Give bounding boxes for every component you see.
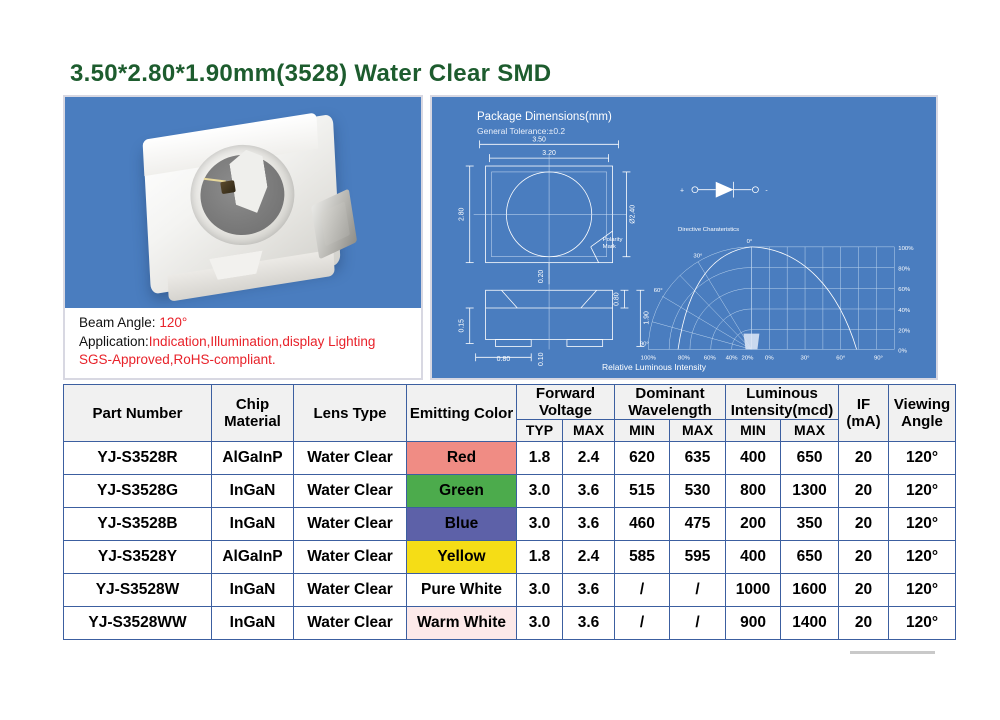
cell-dw-max: 595: [670, 541, 726, 574]
application-value: Indication,Illumination,display Lighting: [149, 334, 376, 349]
cell-lens-type: Water Clear: [294, 508, 407, 541]
cell-dw-min: 460: [615, 508, 670, 541]
col-if-ma: IF (mA): [839, 385, 889, 442]
tick-60pct-right: 60%: [898, 287, 911, 293]
cell-li-max: 1400: [781, 607, 839, 640]
table-header-row-1: Part Number Chip Material Lens Type Emit…: [64, 385, 956, 420]
col-forward-voltage: Forward Voltage: [517, 385, 615, 420]
cell-if-typ: 20: [839, 607, 889, 640]
dim-0-20: 0.20: [538, 270, 545, 284]
dim-dia-2-40: Ø2.40: [629, 205, 636, 224]
cell-emitting-color: Green: [407, 475, 517, 508]
cell-li-max: 1600: [781, 574, 839, 607]
subcol-dw-min: MIN: [615, 420, 670, 442]
tick-40pct: 40%: [726, 355, 739, 361]
cell-emitting-color: Red: [407, 442, 517, 475]
tick-40pct-right: 40%: [898, 308, 911, 314]
tick-0pct-right: 0%: [898, 348, 907, 354]
cell-chip-material: InGaN: [212, 574, 294, 607]
subcol-fv-typ: TYP: [517, 420, 563, 442]
image-panels: Beam Angle: 120° Application:Indication,…: [63, 95, 938, 380]
cell-li-min: 200: [726, 508, 781, 541]
tick-100pct: 100%: [641, 355, 657, 361]
cell-if-typ: 20: [839, 442, 889, 475]
tick-30deg: 30°: [801, 355, 811, 361]
dimension-drawing: 3.50 3.20: [432, 97, 936, 378]
directive-title: Directive Charateristics: [678, 227, 739, 233]
cell-li-min: 900: [726, 607, 781, 640]
cell-viewing-angle: 120°: [889, 541, 956, 574]
scan-artifact-line: [850, 651, 935, 654]
cell-li-max: 1300: [781, 475, 839, 508]
cell-fv-typ: 1.8: [517, 541, 563, 574]
cell-li-min: 400: [726, 541, 781, 574]
cell-viewing-angle: 120°: [889, 475, 956, 508]
cell-li-max: 650: [781, 541, 839, 574]
cell-dw-min: /: [615, 607, 670, 640]
polarity-mark-label: Polarity: [603, 237, 623, 243]
dim-0-15: 0.15: [459, 319, 466, 333]
cell-fv-typ: 3.0: [517, 508, 563, 541]
cell-lens-type: Water Clear: [294, 574, 407, 607]
cell-dw-max: /: [670, 574, 726, 607]
subcol-li-max: MAX: [781, 420, 839, 442]
dim-0-80-bottom: 0.80: [497, 356, 511, 363]
application-label: Application:: [79, 334, 149, 349]
cell-fv-max: 2.4: [563, 442, 615, 475]
cell-part-number: YJ-S3528W: [64, 574, 212, 607]
tick-80pct-right: 80%: [898, 267, 911, 273]
cell-chip-material: AlGaInP: [212, 442, 294, 475]
beam-angle-line: Beam Angle: 120°: [79, 314, 421, 333]
cell-lens-type: Water Clear: [294, 442, 407, 475]
beam-angle-value: 120°: [159, 315, 187, 330]
cell-if-typ: 20: [839, 475, 889, 508]
product-caption: Beam Angle: 120° Application:Indication,…: [65, 308, 421, 378]
svg-text:+: +: [680, 188, 684, 195]
tick-90deg: 90°: [874, 355, 884, 361]
tick-100pct-right: 100%: [898, 246, 914, 252]
diode-symbol-icon: + -: [680, 182, 768, 198]
cell-if-typ: 20: [839, 541, 889, 574]
cell-dw-min: 620: [615, 442, 670, 475]
tick-20pct-right: 20%: [898, 329, 911, 335]
table-row: YJ-S3528RAlGaInPWater ClearRed1.82.46206…: [64, 442, 956, 475]
table-row: YJ-S3528BInGaNWater ClearBlue3.03.646047…: [64, 508, 956, 541]
cell-fv-typ: 3.0: [517, 607, 563, 640]
cell-part-number: YJ-S3528G: [64, 475, 212, 508]
cell-fv-max: 3.6: [563, 574, 615, 607]
cell-chip-material: InGaN: [212, 607, 294, 640]
cell-li-min: 400: [726, 442, 781, 475]
cell-part-number: YJ-S3528WW: [64, 607, 212, 640]
col-lens-type: Lens Type: [294, 385, 407, 442]
cell-lens-type: Water Clear: [294, 541, 407, 574]
smd-led-photo-icon: [126, 103, 360, 306]
table-body: YJ-S3528RAlGaInPWater ClearRed1.82.46206…: [64, 442, 956, 640]
product-photo-panel: Beam Angle: 120° Application:Indication,…: [63, 95, 423, 380]
cell-lens-type: Water Clear: [294, 475, 407, 508]
cell-viewing-angle: 120°: [889, 574, 956, 607]
cell-emitting-color: Pure White: [407, 574, 517, 607]
col-viewing-angle: Viewing Angle: [889, 385, 956, 442]
subcol-li-min: MIN: [726, 420, 781, 442]
cell-dw-min: 585: [615, 541, 670, 574]
cell-emitting-color: Warm White: [407, 607, 517, 640]
cell-li-max: 650: [781, 442, 839, 475]
table-row: YJ-S3528WInGaNWater ClearPure White3.03.…: [64, 574, 956, 607]
cell-viewing-angle: 120°: [889, 442, 956, 475]
tick-60pct: 60%: [704, 355, 717, 361]
tick-0pct: 0%: [765, 355, 774, 361]
dim-3-50: 3.50: [532, 136, 546, 143]
arc-30deg: 30°: [693, 254, 703, 260]
cell-part-number: YJ-S3528R: [64, 442, 212, 475]
application-line: Application:Indication,Illumination,disp…: [79, 333, 421, 352]
col-part-number: Part Number: [64, 385, 212, 442]
subcol-dw-max: MAX: [670, 420, 726, 442]
col-luminous-intensity: Luminous Intensity(mcd): [726, 385, 839, 420]
arc-90deg: 90°: [640, 341, 650, 347]
svg-text:-: -: [765, 188, 767, 195]
tick-80pct: 80%: [678, 355, 691, 361]
arc-60deg: 60°: [654, 288, 664, 294]
cell-dw-min: /: [615, 574, 670, 607]
cell-dw-max: 475: [670, 508, 726, 541]
page-title: 3.50*2.80*1.90mm(3528) Water Clear SMD: [70, 60, 551, 88]
cell-fv-max: 2.4: [563, 541, 615, 574]
dim-1-90: 1.90: [643, 311, 650, 325]
cell-if-typ: 20: [839, 508, 889, 541]
cell-part-number: YJ-S3528B: [64, 508, 212, 541]
cell-fv-typ: 3.0: [517, 574, 563, 607]
cell-emitting-color: Yellow: [407, 541, 517, 574]
dim-0-80-right: 0.80: [614, 292, 621, 306]
cell-li-max: 350: [781, 508, 839, 541]
datasheet-page: 3.50*2.80*1.90mm(3528) Water Clear SMD: [0, 0, 1000, 720]
cell-part-number: YJ-S3528Y: [64, 541, 212, 574]
cell-fv-max: 3.6: [563, 508, 615, 541]
cell-fv-max: 3.6: [563, 475, 615, 508]
specification-table: Part Number Chip Material Lens Type Emit…: [63, 384, 956, 640]
table-row: YJ-S3528GInGaNWater ClearGreen3.03.65155…: [64, 475, 956, 508]
col-dominant-wavelength: Dominant Wavelength: [615, 385, 726, 420]
cell-dw-max: 530: [670, 475, 726, 508]
directive-xlabel: Relative Luminous Intensity: [602, 362, 706, 372]
cell-chip-material: InGaN: [212, 475, 294, 508]
cell-lens-type: Water Clear: [294, 607, 407, 640]
tick-20pct: 20%: [742, 355, 755, 361]
cell-dw-min: 515: [615, 475, 670, 508]
cell-viewing-angle: 120°: [889, 607, 956, 640]
cell-fv-typ: 1.8: [517, 442, 563, 475]
dim-2-80: 2.80: [459, 207, 466, 221]
cell-li-min: 800: [726, 475, 781, 508]
product-photo: [65, 97, 421, 312]
cell-chip-material: InGaN: [212, 508, 294, 541]
polarity-mark-label-2: Mark: [603, 244, 616, 250]
cell-emitting-color: Blue: [407, 508, 517, 541]
cell-li-min: 1000: [726, 574, 781, 607]
cell-if-typ: 20: [839, 574, 889, 607]
table-row: YJ-S3528WWInGaNWater ClearWarm White3.03…: [64, 607, 956, 640]
cell-viewing-angle: 120°: [889, 508, 956, 541]
package-dimensions-panel: Package Dimensions(mm) General Tolerance…: [430, 95, 938, 380]
col-emitting-color: Emitting Color: [407, 385, 517, 442]
table-row: YJ-S3528YAlGaInPWater ClearYellow1.82.45…: [64, 541, 956, 574]
beam-angle-label: Beam Angle:: [79, 315, 156, 330]
cell-dw-max: 635: [670, 442, 726, 475]
cell-dw-max: /: [670, 607, 726, 640]
arc-0deg: 0°: [747, 239, 753, 245]
dim-0-10: 0.10: [538, 352, 545, 366]
tick-60deg: 60°: [836, 355, 846, 361]
subcol-fv-max: MAX: [563, 420, 615, 442]
cell-fv-typ: 3.0: [517, 475, 563, 508]
cell-chip-material: AlGaInP: [212, 541, 294, 574]
col-chip-material: Chip Material: [212, 385, 294, 442]
compliance-line: SGS-Approved,RoHS-compliant.: [79, 351, 421, 370]
cell-fv-max: 3.6: [563, 607, 615, 640]
